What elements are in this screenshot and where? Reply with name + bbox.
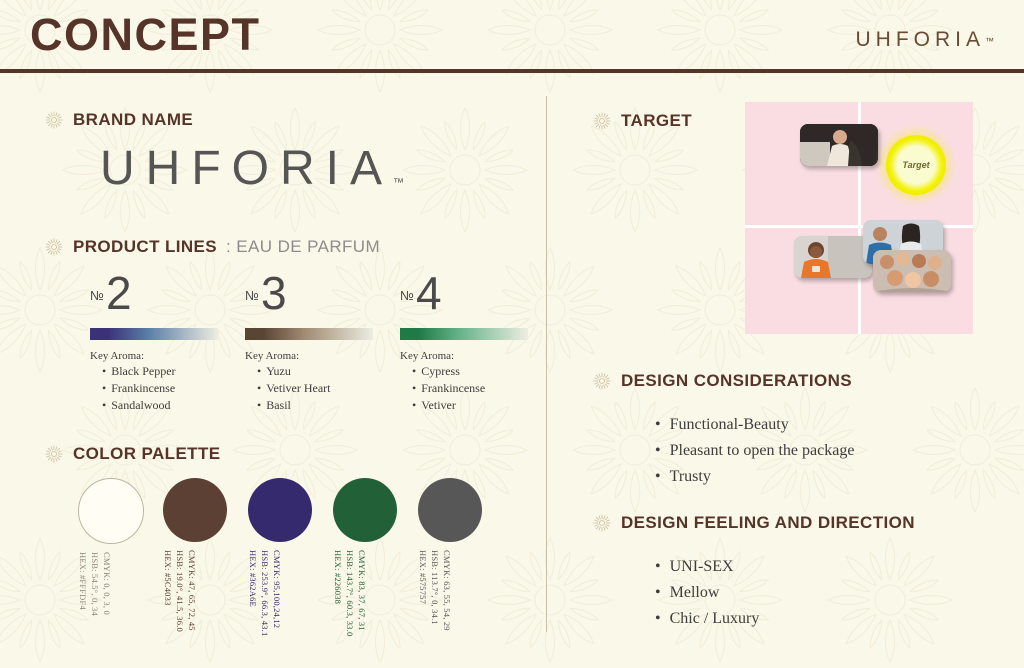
aroma-gradient-bar bbox=[245, 328, 373, 340]
swatch-hsb: HSB: 54.5°, 0, 34 bbox=[90, 552, 100, 616]
swatch-hsb: HSB: 113.7°, 0, 34.1 bbox=[430, 550, 440, 625]
sunburst-icon bbox=[592, 513, 612, 533]
trademark-icon: ™ bbox=[985, 36, 994, 46]
list-item: Yuzu bbox=[257, 364, 375, 379]
numero-prefix: № bbox=[400, 272, 414, 303]
key-aroma-label: Key Aroma: bbox=[245, 350, 375, 362]
swatch-specs: CMYK: 47, 65, 72, 45 HSB: 19.0°, 41.5, 3… bbox=[163, 550, 231, 636]
product-line-item[interactable]: № 4 Key Aroma: Cypress Frankincense Veti… bbox=[400, 272, 530, 413]
swatch-specs: CMYK: 0, 0, 3, 0 HSB: 54.5°, 0, 34 HEX: … bbox=[78, 552, 146, 638]
section-product-lines: PRODUCT LINES : EAU DE PARFUM bbox=[44, 237, 380, 257]
list-item: UNI-SEX bbox=[655, 558, 759, 576]
swatch-hsb: HSB: 253.9°, 66.3, 43.1 bbox=[260, 550, 270, 636]
sunburst-icon bbox=[44, 110, 64, 130]
section-sublabel: : EAU DE PARFUM bbox=[226, 237, 380, 257]
product-lines-group: № 2 Key Aroma: Black Pepper Frankincense… bbox=[90, 272, 530, 412]
key-aroma-label: Key Aroma: bbox=[400, 350, 530, 362]
swatch-hsb: HSB: 143.7°, 60.3, 33.0 bbox=[345, 550, 355, 636]
list-item: Basil bbox=[257, 398, 375, 413]
brand-logo-text: UHFORIA bbox=[856, 28, 986, 51]
swatch-hex: HEX: #226038 bbox=[333, 550, 343, 604]
woman-on-sofa-photo[interactable] bbox=[800, 124, 878, 166]
section-brand-name: BRAND NAME bbox=[44, 110, 193, 130]
sunburst-icon bbox=[44, 237, 64, 257]
design-feeling-list: UNI-SEX Mellow Chic / Luxury bbox=[655, 550, 759, 628]
group-of-friends-photo[interactable] bbox=[873, 250, 951, 292]
brand-logo: UHFORIA™ bbox=[856, 28, 995, 52]
list-item: Chic / Luxury bbox=[655, 610, 759, 628]
section-label: BRAND NAME bbox=[73, 110, 193, 130]
target-bubble[interactable]: Target bbox=[886, 135, 946, 195]
numero-digit: 4 bbox=[416, 272, 442, 316]
section-design-feeling: DESIGN FEELING AND DIRECTION bbox=[592, 513, 915, 533]
swatch-circle bbox=[78, 478, 144, 544]
swatch-cmyk: CMYK: 0, 0, 3, 0 bbox=[102, 552, 112, 615]
list-item: Vetiver Heart bbox=[257, 381, 375, 396]
list-item: Frankincense bbox=[102, 381, 220, 396]
aroma-gradient-bar bbox=[400, 328, 528, 340]
list-item: Black Pepper bbox=[102, 364, 220, 379]
brand-wordmark-text: UHFORIA bbox=[100, 142, 393, 195]
aroma-list: Black Pepper Frankincense Sandalwood bbox=[90, 364, 220, 413]
swatch-specs: CMYK: 83, 37, 67, 31 HSB: 143.7°, 60.3, … bbox=[333, 550, 401, 636]
aroma-list: Cypress Frankincense Vetiver bbox=[400, 364, 530, 413]
page-header: CONCEPT UHFORIA™ bbox=[0, 0, 1024, 72]
product-line-number: № 2 bbox=[90, 272, 220, 324]
header-divider bbox=[0, 69, 1024, 73]
list-item: Sandalwood bbox=[102, 398, 220, 413]
column-divider bbox=[546, 96, 547, 632]
list-item: Trusty bbox=[655, 468, 854, 486]
aroma-list: Yuzu Vetiver Heart Basil bbox=[245, 364, 375, 413]
product-line-number: № 3 bbox=[245, 272, 375, 324]
numero-prefix: № bbox=[90, 272, 104, 303]
swatch-circle bbox=[418, 478, 482, 542]
aroma-gradient-bar bbox=[90, 328, 218, 340]
list-item: Frankincense bbox=[412, 381, 530, 396]
section-label: COLOR PALETTE bbox=[73, 444, 221, 464]
woman-in-orange-photo[interactable] bbox=[794, 236, 872, 278]
concept-slide: CONCEPT UHFORIA™ BRAND NAME UHFORIA™ bbox=[0, 0, 1024, 668]
section-color-palette: COLOR PALETTE bbox=[44, 444, 221, 464]
swatch-cmyk: CMYK: 47, 65, 72, 45 bbox=[187, 550, 197, 631]
numero-digit: 2 bbox=[106, 272, 132, 316]
list-item: Pleasant to open the package bbox=[655, 442, 854, 460]
list-item: Functional-Beauty bbox=[655, 416, 854, 434]
section-label: DESIGN FEELING AND DIRECTION bbox=[621, 513, 915, 533]
section-target: TARGET bbox=[592, 111, 692, 131]
swatch-circle bbox=[163, 478, 227, 542]
swatch-specs: CMYK: 63, 55, 54, 29 HSB: 113.7°, 0, 34.… bbox=[418, 550, 486, 636]
design-considerations-list: Functional-Beauty Pleasant to open the p… bbox=[655, 408, 854, 486]
list-item: Vetiver bbox=[412, 398, 530, 413]
trademark-icon: ™ bbox=[393, 177, 404, 189]
numero-prefix: № bbox=[245, 272, 259, 303]
swatch-hex: HEX: #FFFDF4 bbox=[78, 552, 88, 610]
color-swatch[interactable]: CMYK: 0, 0, 3, 0 HSB: 54.5°, 0, 34 HEX: … bbox=[78, 478, 146, 638]
sunburst-icon bbox=[44, 444, 64, 464]
sunburst-icon bbox=[592, 371, 612, 391]
swatch-hex: HEX: #362A6E bbox=[248, 550, 258, 607]
target-quadrant-map: Target bbox=[745, 102, 973, 334]
swatch-cmyk: CMYK: 83, 37, 67, 31 bbox=[357, 550, 367, 631]
color-swatch[interactable]: CMYK: 83, 37, 67, 31 HSB: 143.7°, 60.3, … bbox=[333, 478, 401, 636]
swatch-specs: CMYK: 95,100,24,12 HSB: 253.9°, 66.3, 43… bbox=[248, 550, 316, 636]
list-item: Mellow bbox=[655, 584, 759, 602]
swatch-circle bbox=[333, 478, 397, 542]
numero-digit: 3 bbox=[261, 272, 287, 316]
section-label: DESIGN CONSIDERATIONS bbox=[621, 371, 852, 391]
swatch-hex: HEX: #575757 bbox=[418, 550, 428, 604]
swatch-hex: HEX: #5C4033 bbox=[163, 550, 173, 606]
section-label: PRODUCT LINES bbox=[73, 237, 217, 257]
target-bubble-label: Target bbox=[902, 160, 929, 170]
swatch-cmyk: CMYK: 95,100,24,12 bbox=[272, 550, 282, 628]
swatch-cmyk: CMYK: 63, 55, 54, 29 bbox=[442, 550, 452, 631]
page-title: CONCEPT bbox=[30, 12, 261, 57]
product-line-item[interactable]: № 3 Key Aroma: Yuzu Vetiver Heart Basil bbox=[245, 272, 375, 413]
key-aroma-label: Key Aroma: bbox=[90, 350, 220, 362]
brand-wordmark: UHFORIA™ bbox=[100, 145, 404, 193]
color-swatch-group: CMYK: 0, 0, 3, 0 HSB: 54.5°, 0, 34 HEX: … bbox=[78, 478, 528, 638]
swatch-hsb: HSB: 19.0°, 41.5, 36.0 bbox=[175, 550, 185, 632]
section-label: TARGET bbox=[621, 111, 692, 131]
product-line-item[interactable]: № 2 Key Aroma: Black Pepper Frankincense… bbox=[90, 272, 220, 413]
swatch-circle bbox=[248, 478, 312, 542]
section-design-considerations: DESIGN CONSIDERATIONS bbox=[592, 371, 852, 391]
color-swatch[interactable]: CMYK: 95,100,24,12 HSB: 253.9°, 66.3, 43… bbox=[248, 478, 316, 636]
color-swatch[interactable]: CMYK: 47, 65, 72, 45 HSB: 19.0°, 41.5, 3… bbox=[163, 478, 231, 636]
product-line-number: № 4 bbox=[400, 272, 530, 324]
color-swatch[interactable]: CMYK: 63, 55, 54, 29 HSB: 113.7°, 0, 34.… bbox=[418, 478, 486, 636]
sunburst-icon bbox=[592, 111, 612, 131]
list-item: Cypress bbox=[412, 364, 530, 379]
